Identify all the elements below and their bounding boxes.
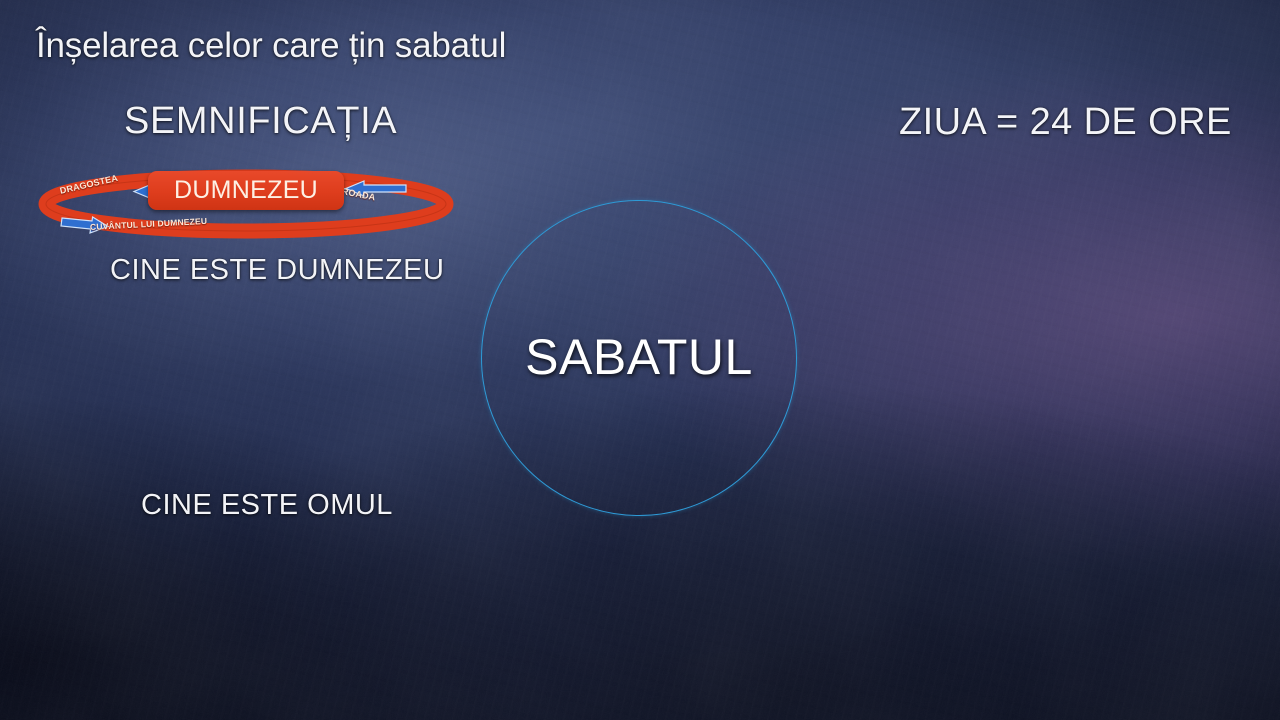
cycle-center-box-label: DUMNEZEU [174, 178, 318, 203]
cycle-diagram: DRAGOSTEA ROADA CUVÂNTUL LUI DUMNEZEU DU… [36, 163, 456, 243]
center-circle-label: SABATUL [481, 328, 797, 386]
bullet-cine-este-dumnezeu: CINE ESTE DUMNEZEU [110, 254, 444, 287]
cycle-center-box: DUMNEZEU [148, 171, 344, 210]
presentation-slide: Înșelarea celor care țin sabatul SEMNIFI… [0, 0, 1280, 720]
bullet-cine-este-omul: CINE ESTE OMUL [141, 489, 393, 522]
center-circle-group: SABATUL [481, 200, 797, 516]
heading-semnificatia: SEMNIFICAȚIA [124, 100, 397, 143]
slide-title: Înșelarea celor care țin sabatul [36, 26, 506, 66]
heading-ziua-24-de-ore: ZIUA = 24 DE ORE [899, 101, 1232, 144]
